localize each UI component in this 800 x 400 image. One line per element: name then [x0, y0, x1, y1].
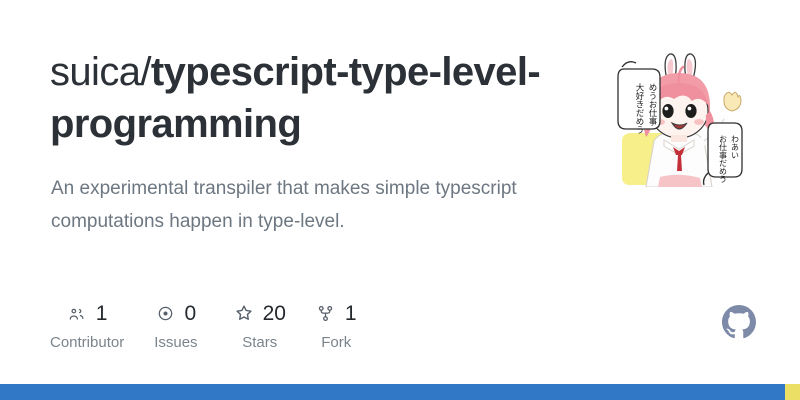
language-bar	[0, 384, 800, 400]
repository-social-preview-card: suica/typescript-type-level-programming …	[0, 0, 800, 400]
svg-text:めうお仕事: めうお仕事	[647, 83, 657, 126]
stat-stars-label: Stars	[242, 335, 277, 351]
repo-stats: 1 Contributor 0 Issues	[50, 300, 357, 351]
star-icon	[234, 303, 254, 323]
stat-forks-label: Fork	[321, 335, 351, 351]
stat-stars-top: 20	[234, 300, 286, 326]
stat-stars[interactable]: 20 Stars	[234, 300, 286, 351]
svg-text:大好きだめう: 大好きだめう	[634, 82, 644, 134]
stat-contributors-top: 1	[67, 300, 108, 326]
stat-forks-value: 1	[345, 303, 357, 324]
svg-text:わあい: わあい	[731, 135, 740, 159]
stat-stars-value: 20	[263, 303, 286, 324]
github-octocat-icon	[722, 305, 756, 339]
stat-contributors-value: 1	[96, 303, 108, 324]
stat-issues-value: 0	[185, 303, 197, 324]
page-title: suica/typescript-type-level-programming	[50, 46, 570, 150]
repo-description: An experimental transpiler that makes si…	[51, 172, 551, 238]
repository-preview-avatar: めうお仕事 大好きだめう わあい お仕事だめう	[608, 45, 750, 187]
repo-separator: /	[140, 50, 151, 94]
stat-contributors[interactable]: 1 Contributor	[50, 300, 124, 351]
people-icon	[67, 303, 87, 323]
issue-opened-icon	[156, 303, 176, 323]
stat-issues-label: Issues	[154, 335, 197, 351]
stat-forks[interactable]: 1 Fork	[316, 300, 357, 351]
language-segment-typescript	[0, 384, 785, 400]
stat-contributors-label: Contributor	[50, 335, 124, 351]
stat-issues[interactable]: 0 Issues	[154, 300, 197, 351]
stat-forks-top: 1	[316, 300, 357, 326]
repo-owner: suica	[50, 50, 140, 94]
stat-issues-top: 0	[156, 300, 197, 326]
language-segment-javascript	[785, 384, 800, 400]
repo-forked-icon	[316, 303, 336, 323]
svg-text:お仕事だめう: お仕事だめう	[719, 135, 728, 183]
